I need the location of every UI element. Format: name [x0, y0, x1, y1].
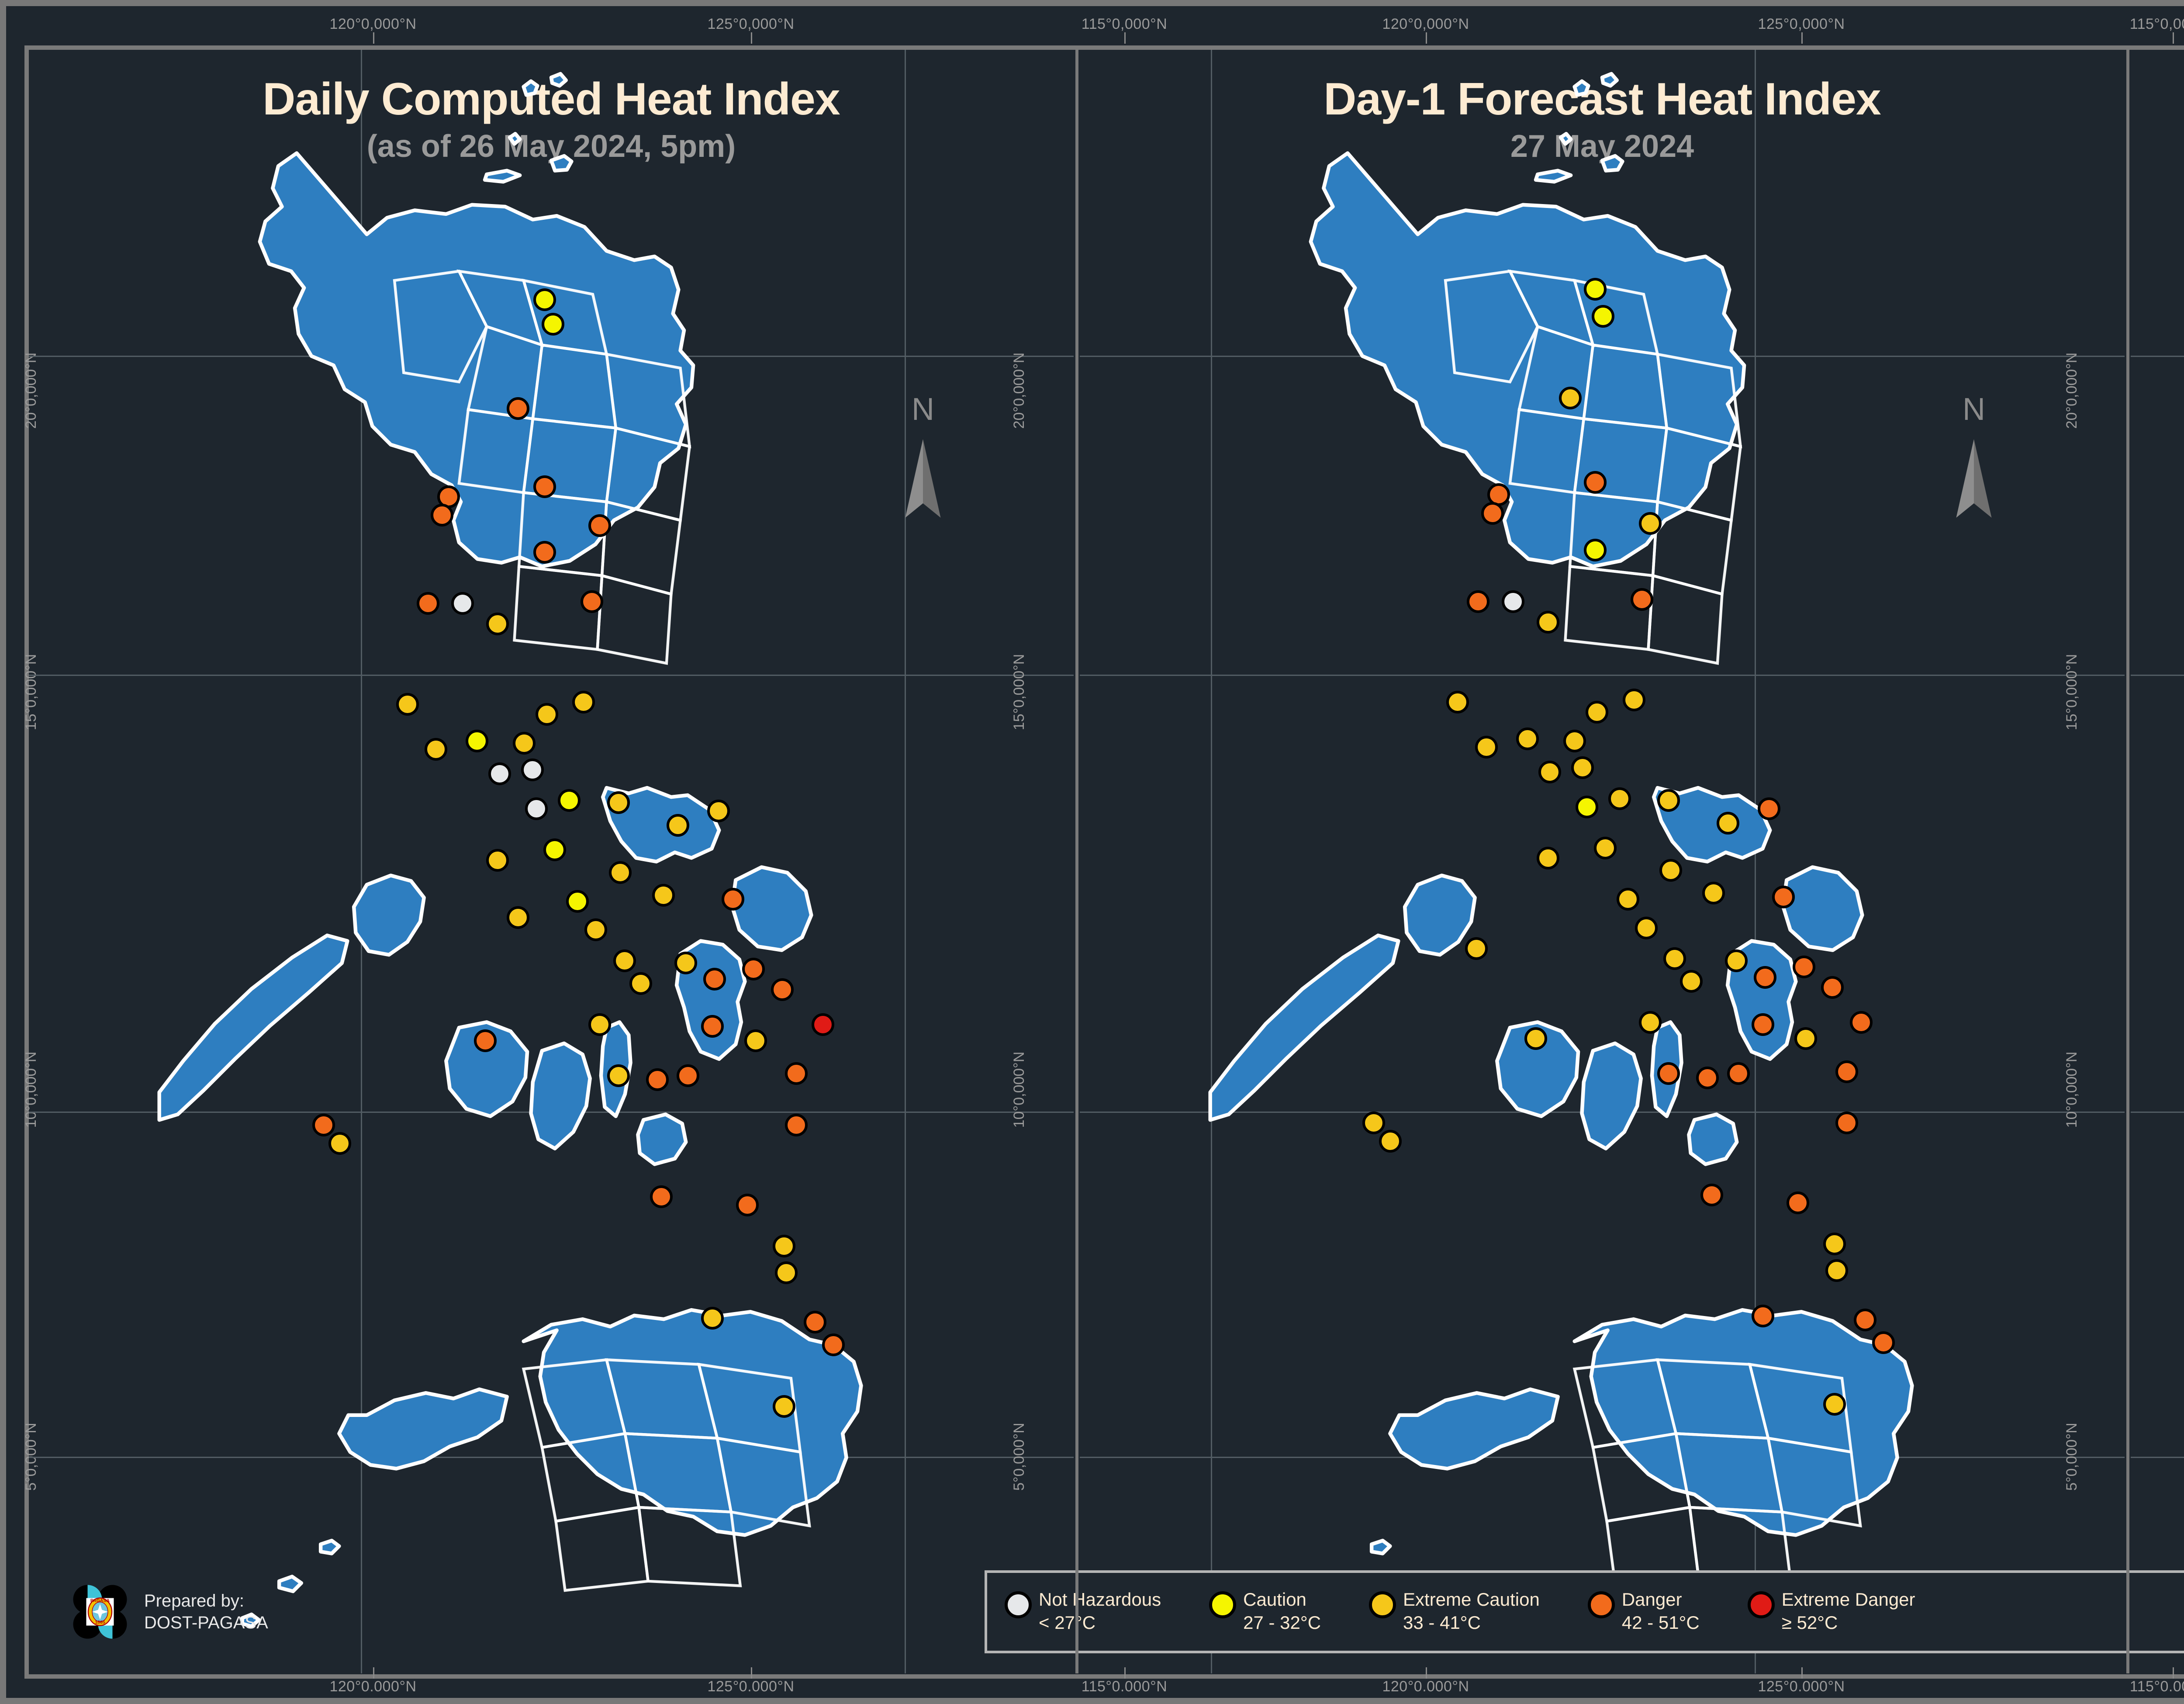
station-marker[interactable] — [466, 730, 488, 752]
station-marker[interactable] — [652, 884, 675, 907]
legend-swatch-4 — [1748, 1591, 1775, 1618]
station-marker[interactable] — [1584, 471, 1607, 494]
station-marker[interactable] — [1516, 727, 1539, 750]
credit-line-2: DOST-PAGASA — [144, 1612, 268, 1634]
station-marker[interactable] — [507, 906, 529, 929]
landmass — [1405, 876, 1475, 955]
legend-label-1: Caution — [1243, 1589, 1321, 1610]
axis-label-top-2: 115°0,000°N — [1082, 16, 1168, 33]
north-arrow: N — [886, 395, 960, 522]
axis-label-bottom-1: 125°0.000°N — [707, 1678, 794, 1695]
station-marker[interactable] — [742, 958, 765, 980]
legend-swatch-1 — [1209, 1591, 1236, 1618]
station-marker[interactable] — [646, 1068, 669, 1091]
station-marker[interactable] — [1702, 882, 1725, 904]
axis-label-inner-0-2: 10°0,000°N — [1011, 1052, 1028, 1128]
station-marker[interactable] — [507, 397, 529, 420]
station-marker[interactable] — [1594, 837, 1617, 859]
station-marker[interactable] — [1584, 278, 1607, 301]
station-marker[interactable] — [513, 732, 536, 755]
station-marker[interactable] — [1481, 502, 1504, 525]
axis-label-inner-1-2: 10°0,000°N — [2063, 1052, 2080, 1128]
station-marker[interactable] — [1680, 970, 1703, 993]
station-marker[interactable] — [1379, 1130, 1402, 1153]
axis-label-top-4: 125°0,000°N — [1758, 16, 1845, 33]
station-marker[interactable] — [1586, 701, 1608, 724]
station-marker[interactable] — [1608, 787, 1631, 810]
station-marker[interactable] — [1538, 761, 1561, 783]
station-marker[interactable] — [736, 1194, 759, 1216]
station-marker[interactable] — [1752, 1013, 1774, 1036]
station-marker[interactable] — [543, 838, 566, 861]
station-marker[interactable] — [533, 475, 556, 498]
panel-divider-1 — [2126, 50, 2129, 1673]
landmass — [321, 1541, 339, 1554]
station-marker[interactable] — [1752, 1305, 1774, 1327]
station-marker[interactable] — [609, 861, 632, 884]
axis-label-bottom-3: 120°0.000°N — [1382, 1678, 1469, 1695]
station-marker[interactable] — [558, 789, 581, 812]
panel-divider-0 — [1075, 50, 1078, 1673]
station-marker[interactable] — [486, 613, 509, 635]
station-marker[interactable] — [1872, 1331, 1895, 1354]
station-marker[interactable] — [1657, 1062, 1680, 1085]
station-marker[interactable] — [396, 693, 419, 716]
station-marker[interactable] — [572, 691, 595, 713]
legend: Not Hazardous< 27°CCaution27 - 32°CExtre… — [985, 1570, 2184, 1653]
station-marker[interactable] — [1639, 1011, 1662, 1034]
landmass — [1575, 1310, 1912, 1535]
station-marker[interactable] — [533, 541, 556, 564]
landmass — [159, 935, 348, 1120]
landmass — [279, 1576, 301, 1591]
landmass — [1536, 171, 1571, 182]
station-marker[interactable] — [1700, 1184, 1723, 1206]
station-marker[interactable] — [1635, 917, 1658, 939]
station-marker[interactable] — [773, 1235, 795, 1257]
landmass — [1582, 1043, 1641, 1149]
legend-swatch-2 — [1369, 1591, 1396, 1618]
landmass — [354, 876, 424, 955]
landmass — [531, 1043, 590, 1149]
station-marker[interactable] — [1758, 797, 1780, 820]
axis-label-top-3: 120°0,000°N — [1382, 16, 1469, 33]
station-marker[interactable] — [581, 590, 603, 613]
axis-tick-top — [751, 32, 752, 44]
landmass — [1372, 1541, 1390, 1554]
station-marker[interactable] — [1825, 1259, 1848, 1282]
logo-text-top: PAGASA — [90, 1598, 110, 1604]
axis-tick-top — [1801, 32, 1803, 44]
landmass — [1575, 81, 1589, 95]
axis-label-inner-1-0: 20°0,000°N — [2063, 353, 2080, 429]
station-marker[interactable] — [588, 1013, 611, 1036]
station-marker[interactable] — [1754, 966, 1776, 989]
legend-label-4: Extreme Danger — [1782, 1589, 1915, 1610]
axis-label-top-1: 125°0,000°N — [707, 16, 794, 33]
station-marker[interactable] — [701, 1015, 724, 1038]
station-marker[interactable] — [667, 814, 689, 837]
legend-range-1: 27 - 32°C — [1243, 1610, 1321, 1635]
north-arrow-icon — [886, 437, 960, 520]
station-marker[interactable] — [417, 592, 439, 615]
station-marker[interactable] — [1725, 949, 1748, 972]
station-marker[interactable] — [566, 890, 589, 913]
station-marker[interactable] — [785, 1062, 808, 1085]
station-marker[interactable] — [707, 800, 730, 822]
station-marker[interactable] — [488, 762, 511, 785]
heat-index-map-figure: 120°0,000°N125°0,000°N115°0,000°N120°0,0… — [0, 0, 2184, 1704]
map-panel-1: Day-1 Forecast Heat Index27 May 2024N — [1080, 50, 2125, 1673]
pagasa-logo-icon: PAGASA 1865 — [67, 1579, 133, 1645]
station-marker[interactable] — [1465, 937, 1488, 960]
station-marker[interactable] — [1584, 539, 1607, 561]
landmass — [732, 867, 812, 950]
axis-label-top-0: 120°0,000°N — [329, 16, 416, 33]
axis-tick-top — [1426, 32, 1427, 44]
landmass — [638, 1115, 686, 1164]
station-marker[interactable] — [804, 1311, 826, 1333]
axis-tick-top — [2173, 32, 2174, 44]
province-boundary — [1648, 575, 1722, 663]
landmass — [1210, 935, 1399, 1120]
landmass — [524, 1310, 861, 1535]
legend-range-4: ≥ 52°C — [1782, 1610, 1915, 1635]
station-marker[interactable] — [613, 949, 636, 972]
province-boundary — [598, 575, 671, 663]
station-marker[interactable] — [1659, 859, 1682, 882]
axis-label-top-5: 115°0,000°N — [2130, 16, 2184, 33]
station-marker[interactable] — [1446, 691, 1469, 713]
station-marker[interactable] — [1617, 888, 1639, 911]
station-marker[interactable] — [533, 288, 556, 311]
axis-label-inner-0-3: 5°0,000°N — [1011, 1423, 1028, 1491]
legend-range-2: 33 - 41°C — [1403, 1610, 1540, 1635]
station-marker[interactable] — [1823, 1233, 1846, 1255]
station-marker[interactable] — [584, 918, 607, 941]
station-marker[interactable] — [328, 1132, 351, 1155]
station-marker[interactable] — [701, 1307, 724, 1330]
axis-label-inner-1-3: 5°0,000°N — [2063, 1423, 2080, 1491]
station-marker[interactable] — [1576, 796, 1598, 818]
station-marker[interactable] — [1663, 947, 1686, 970]
landmass — [1602, 74, 1617, 86]
landmass — [1602, 156, 1622, 171]
credit-block: PAGASA 1865 Prepared by: DOST-PAGASA — [67, 1579, 268, 1645]
philippines-map — [2131, 50, 2184, 1673]
legend-swatch-3 — [1588, 1591, 1615, 1618]
landmass — [260, 153, 693, 566]
landmass — [551, 156, 571, 171]
north-arrow-label: N — [1937, 391, 2011, 427]
station-marker[interactable] — [1592, 305, 1614, 328]
station-marker[interactable] — [1835, 1060, 1858, 1083]
axis-label-bottom-0: 120°0.000°N — [329, 1678, 416, 1695]
station-marker[interactable] — [1657, 789, 1680, 812]
legend-item-1: Caution27 - 32°C — [1209, 1589, 1321, 1635]
landmass — [1689, 1115, 1737, 1164]
legend-label-0: Not Hazardous — [1039, 1589, 1161, 1610]
landmass — [1783, 867, 1863, 950]
station-marker[interactable] — [650, 1185, 673, 1208]
station-marker[interactable] — [1787, 1191, 1809, 1214]
station-marker[interactable] — [1717, 812, 1739, 835]
province-boundary — [556, 1507, 648, 1590]
legend-item-3: Danger42 - 51°C — [1588, 1589, 1700, 1635]
station-marker[interactable] — [1467, 590, 1489, 613]
station-marker[interactable] — [1854, 1309, 1876, 1331]
station-marker[interactable] — [1835, 1112, 1858, 1134]
landmass — [510, 134, 520, 144]
map-panel-0: Daily Computed Heat Index(as of 26 May 2… — [29, 50, 1074, 1673]
station-marker[interactable] — [1537, 611, 1559, 634]
station-marker[interactable] — [1727, 1062, 1750, 1085]
station-marker[interactable] — [542, 313, 564, 336]
legend-item-4: Extreme Danger≥ 52°C — [1748, 1589, 1915, 1635]
north-arrow: N — [1937, 395, 2011, 522]
station-marker[interactable] — [425, 738, 447, 761]
station-marker[interactable] — [785, 1114, 808, 1136]
station-marker[interactable] — [1537, 847, 1559, 869]
axis-tick-top — [1124, 32, 1126, 44]
station-marker[interactable] — [744, 1029, 767, 1052]
station-marker[interactable] — [451, 592, 474, 615]
station-marker[interactable] — [1639, 512, 1662, 535]
landmass — [485, 171, 520, 182]
station-marker[interactable] — [722, 888, 744, 911]
landmass — [1561, 134, 1571, 144]
legend-range-0: < 27°C — [1039, 1610, 1161, 1635]
axis-label-inner-1-1: 15°0,000°N — [2063, 654, 2080, 731]
logo-text-bottom: 1865 — [95, 1620, 105, 1625]
station-marker[interactable] — [1623, 689, 1645, 711]
axis-label-bottom-2: 115°0.000°N — [1082, 1678, 1168, 1695]
station-marker[interactable] — [822, 1333, 845, 1356]
station-marker[interactable] — [629, 972, 652, 995]
axis-label-inner-0-1: 15°0,000°N — [1011, 654, 1028, 731]
legend-swatch-0 — [1005, 1591, 1032, 1618]
legend-label-2: Extreme Caution — [1403, 1589, 1540, 1610]
station-marker[interactable] — [1502, 590, 1524, 613]
station-marker[interactable] — [1794, 1027, 1817, 1050]
station-marker[interactable] — [536, 703, 558, 726]
legend-item-2: Extreme Caution33 - 41°C — [1369, 1589, 1540, 1635]
axis-label-inner-0-0: 20°0,000°N — [1011, 353, 1028, 429]
station-marker[interactable] — [521, 758, 544, 781]
north-arrow-label: N — [886, 391, 960, 427]
station-marker[interactable] — [1821, 976, 1844, 999]
station-marker[interactable] — [1475, 736, 1498, 758]
station-marker[interactable] — [474, 1029, 497, 1052]
station-marker[interactable] — [773, 1395, 795, 1418]
station-marker[interactable] — [1793, 956, 1815, 978]
station-marker[interactable] — [1362, 1112, 1385, 1134]
station-marker[interactable] — [775, 1261, 798, 1284]
map-panel-2: Day-2 Forecast Heat Index28 May 2024N — [2131, 50, 2184, 1673]
station-marker[interactable] — [1559, 387, 1582, 409]
station-marker[interactable] — [1571, 756, 1594, 779]
station-marker[interactable] — [486, 849, 509, 872]
station-marker[interactable] — [674, 952, 697, 974]
station-marker[interactable] — [812, 1013, 834, 1036]
axis-label-bottom-5: 115°0.000°N — [2130, 1678, 2184, 1695]
axis-label-bottom-4: 125°0.000°N — [1758, 1678, 1845, 1695]
station-marker[interactable] — [771, 978, 794, 1001]
station-marker[interactable] — [607, 791, 630, 814]
landmass — [524, 81, 538, 95]
station-marker[interactable] — [607, 1064, 630, 1087]
landmass — [1390, 1389, 1558, 1469]
station-marker[interactable] — [1631, 588, 1653, 611]
station-marker[interactable] — [431, 504, 453, 526]
station-marker[interactable] — [1823, 1393, 1846, 1416]
landmass — [1311, 153, 1744, 566]
legend-range-3: 42 - 51°C — [1622, 1610, 1700, 1635]
axis-tick-top — [373, 32, 374, 44]
station-marker[interactable] — [703, 968, 726, 991]
station-marker[interactable] — [677, 1064, 699, 1087]
north-arrow-icon — [1937, 437, 2011, 520]
station-marker[interactable] — [1696, 1067, 1719, 1089]
station-marker[interactable] — [1850, 1011, 1873, 1034]
legend-item-0: Not Hazardous< 27°C — [1005, 1589, 1161, 1635]
station-marker[interactable] — [1524, 1027, 1547, 1050]
station-marker[interactable] — [1772, 886, 1795, 908]
station-marker[interactable] — [312, 1114, 335, 1136]
station-marker[interactable] — [525, 797, 548, 820]
station-marker[interactable] — [588, 514, 611, 537]
credit-line-1: Prepared by: — [144, 1590, 268, 1612]
station-marker[interactable] — [1563, 730, 1586, 752]
legend-label-3: Danger — [1622, 1589, 1700, 1610]
landmass — [551, 74, 566, 86]
landmass — [339, 1389, 507, 1469]
